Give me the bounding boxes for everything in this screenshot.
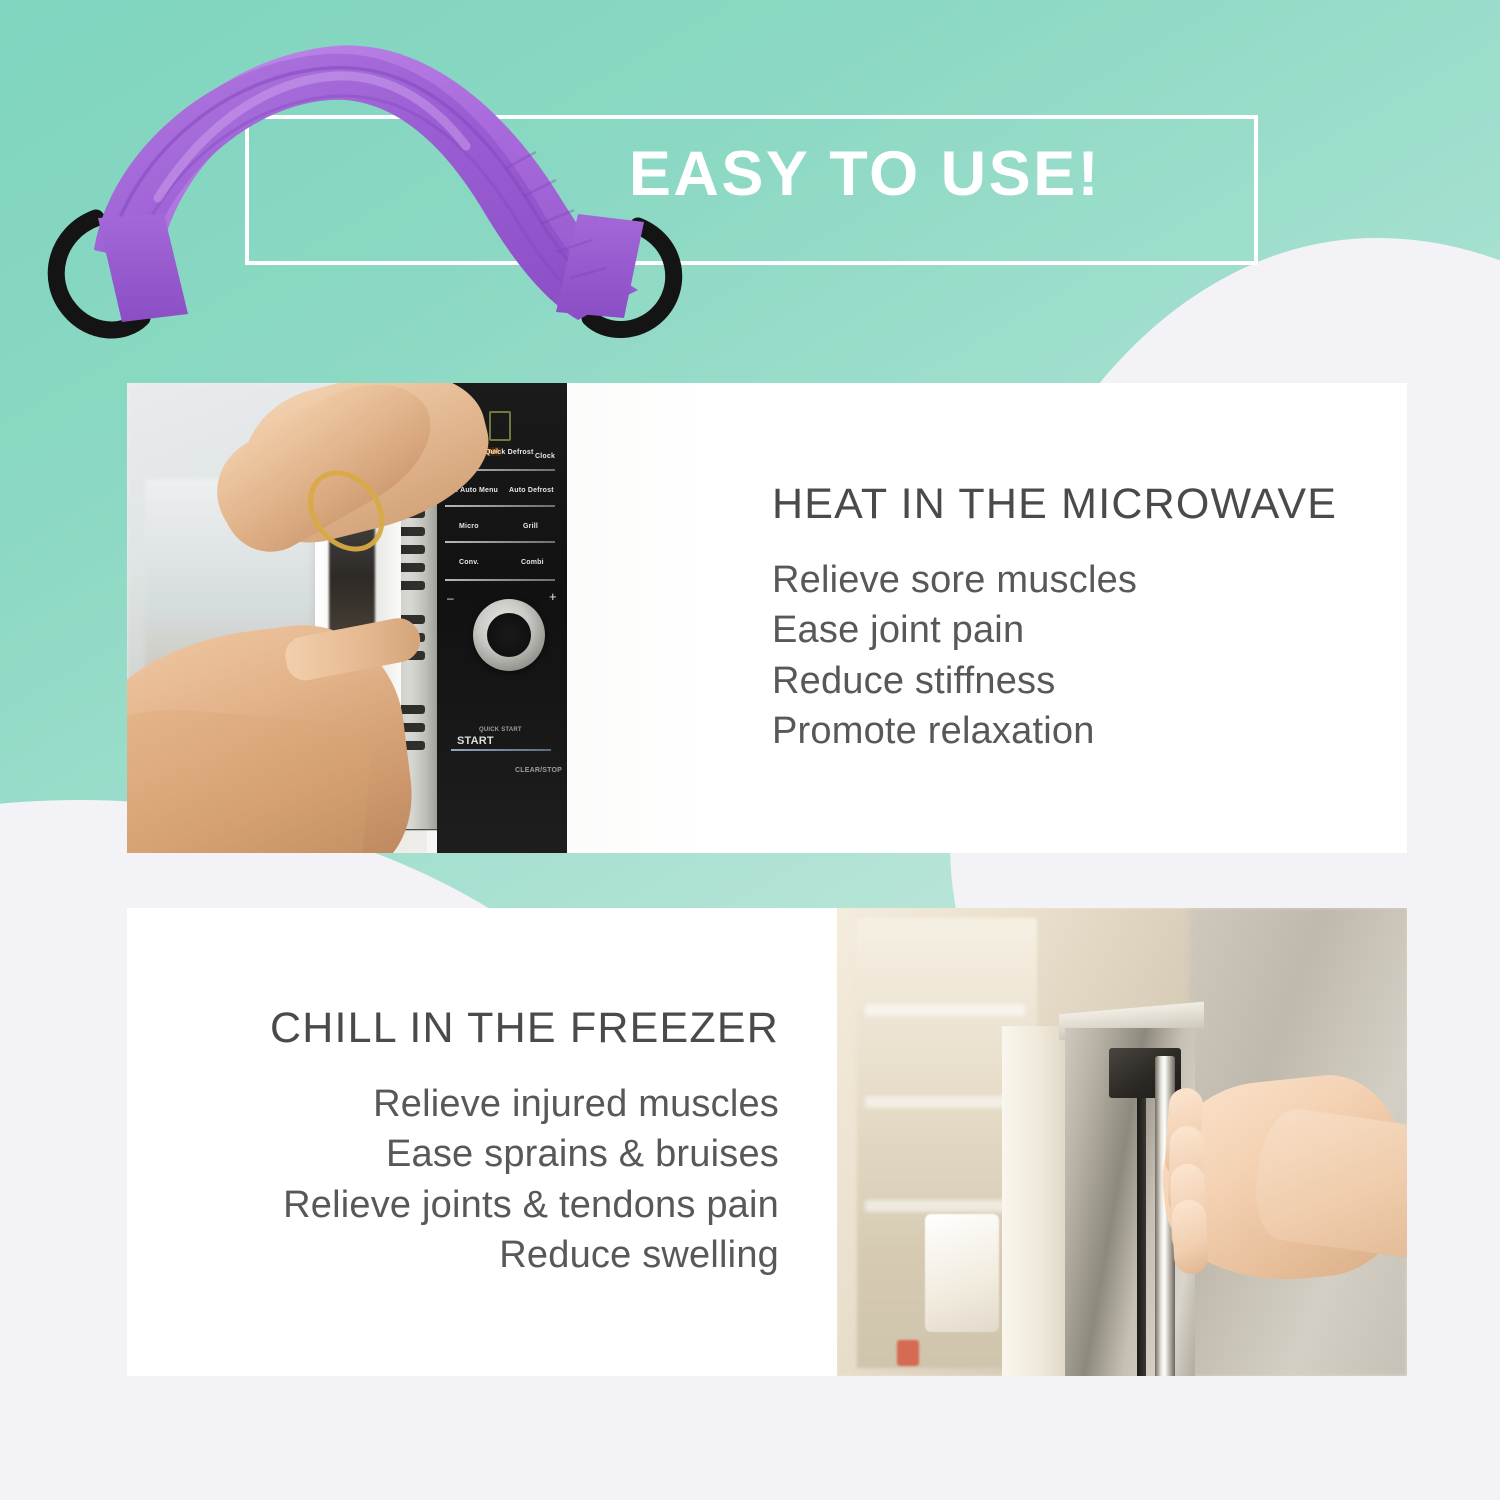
microwave-button-quick-start[interactable]: QUICK START [479, 727, 522, 733]
microwave-button-start[interactable]: START [457, 735, 494, 747]
panel-chill-copy: CHILL IN THE FREEZER Relieve injured mus… [127, 908, 837, 1376]
panel-heat-title: HEAT IN THE MICROWAVE [772, 480, 1363, 529]
benefit-item: Relieve sore muscles [772, 555, 1363, 605]
microwave-dial-plus[interactable]: + [549, 589, 557, 604]
panel-chill-in-the-freezer: CHILL IN THE FREEZER Relieve injured mus… [127, 908, 1407, 1376]
benefit-item: Relieve joints & tendons pain [157, 1180, 779, 1230]
fridge-drawer [925, 1214, 999, 1332]
microwave-button-quick-defrost[interactable]: Quick Defrost [485, 449, 534, 456]
hero-section: EASY TO USE! [0, 0, 1500, 383]
panel-chill-benefit-list: Relieve injured muscles Ease sprains & b… [157, 1079, 779, 1280]
microwave-dial[interactable] [473, 599, 545, 671]
benefit-item: Ease joint pain [772, 605, 1363, 655]
microwave-button-auto-defrost[interactable]: Auto Defrost [509, 487, 554, 494]
microwave-dial-minus[interactable]: – [447, 591, 454, 605]
microwave-button-micro[interactable]: Micro [459, 523, 479, 530]
benefit-item: Reduce stiffness [772, 656, 1363, 706]
microwave-button-grill[interactable]: Grill [523, 523, 538, 530]
forearm [127, 700, 373, 853]
microwave-display [489, 411, 511, 441]
freezer-photo [837, 908, 1407, 1376]
microwave-photo: Crispy Reheat Quick Defrost Clock Thai A… [127, 383, 712, 853]
benefit-item: Reduce swelling [157, 1230, 779, 1280]
microwave-button-clear-stop[interactable]: CLEAR/STOP [515, 767, 562, 774]
infographic-canvas: EASY TO USE! [0, 0, 1500, 1500]
microwave-button-conv[interactable]: Conv. [459, 559, 479, 566]
fridge-item-red [897, 1340, 919, 1366]
product-neck-wrap-image [38, 18, 698, 358]
panel-heat-in-the-microwave: Crispy Reheat Quick Defrost Clock Thai A… [127, 383, 1407, 853]
panel-heat-benefit-list: Relieve sore muscles Ease joint pain Red… [772, 555, 1363, 756]
microwave-button-combi[interactable]: Combi [521, 559, 544, 566]
panel-heat-copy: HEAT IN THE MICROWAVE Relieve sore muscl… [712, 383, 1407, 853]
benefit-item: Ease sprains & bruises [157, 1129, 779, 1179]
microwave-button-clock[interactable]: Clock [535, 453, 555, 460]
benefit-item: Relieve injured muscles [157, 1079, 779, 1129]
panel-chill-title: CHILL IN THE FREEZER [157, 1004, 779, 1053]
benefit-item: Promote relaxation [772, 706, 1363, 756]
